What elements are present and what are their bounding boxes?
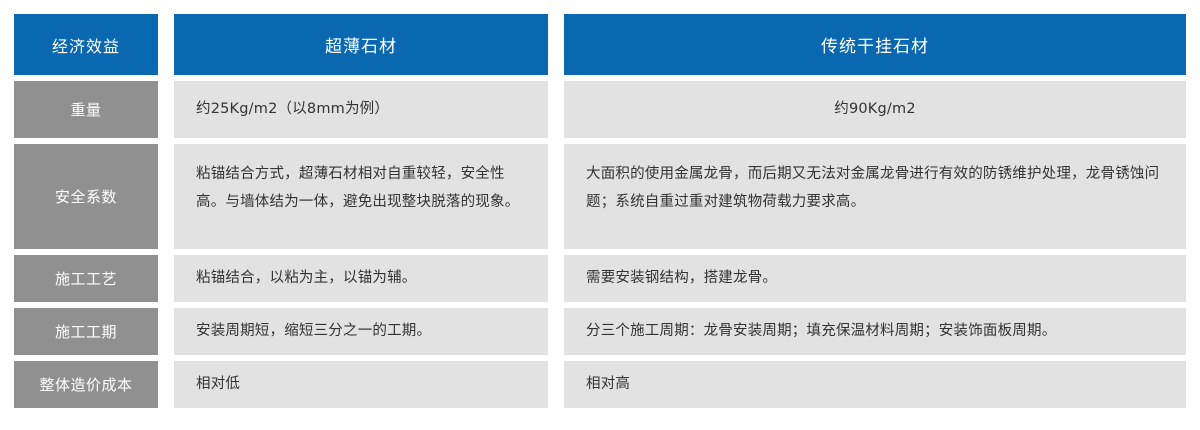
row-label-text: 安全系数 [14,186,158,207]
header-cell-ultrathin: 超薄石材 [174,14,548,75]
header-cell-traditional: 传统干挂石材 [564,14,1186,75]
cell-text: 安装周期短，缩短三分之一的工期。 [196,317,526,345]
row-label-duration: 施工工期 [14,308,158,355]
cell-duration-traditional: 分三个施工周期：龙骨安装周期；填充保温材料周期；安装饰面板周期。 [564,308,1186,355]
comparison-table: 经济效益 超薄石材 传统干挂石材 重量 约25Kg/m2（以8mm为例） 约90… [0,0,1200,430]
cell-text: 粘锚结合，以粘为主，以锚为辅。 [196,264,526,292]
cell-text: 相对高 [586,370,1164,398]
row-label-cost: 整体造价成本 [14,361,158,408]
table-row: 整体造价成本 相对低 相对高 [14,361,1186,408]
cell-text: 需要安装钢结构，搭建龙骨。 [586,264,1164,292]
cell-duration-ultrathin: 安装周期短，缩短三分之一的工期。 [174,308,548,355]
table-row: 安全系数 粘锚结合方式，超薄石材相对自重较轻，安全性高。与墙体结为一体，避免出现… [14,144,1186,249]
cell-text: 分三个施工周期：龙骨安装周期；填充保温材料周期；安装饰面板周期。 [586,317,1164,345]
cell-cost-traditional: 相对高 [564,361,1186,408]
table-row: 重量 约25Kg/m2（以8mm为例） 约90Kg/m2 [14,81,1186,138]
row-label-process: 施工工艺 [14,255,158,302]
cell-text: 大面积的使用金属龙骨，而后期又无法对金属龙骨进行有效的防锈维护处理，龙骨锈蚀问题… [586,160,1164,217]
cell-safety-traditional: 大面积的使用金属龙骨，而后期又无法对金属龙骨进行有效的防锈维护处理，龙骨锈蚀问题… [564,144,1186,249]
row-label-safety: 安全系数 [14,144,158,249]
cell-safety-ultrathin: 粘锚结合方式，超薄石材相对自重较轻，安全性高。与墙体结为一体，避免出现整块脱落的… [174,144,548,249]
row-label-weight: 重量 [14,81,158,138]
cell-text: 约25Kg/m2（以8mm为例） [196,95,526,123]
cell-weight-ultrathin: 约25Kg/m2（以8mm为例） [174,81,548,138]
cell-text: 粘锚结合方式，超薄石材相对自重较轻，安全性高。与墙体结为一体，避免出现整块脱落的… [196,160,526,217]
table-row: 施工工艺 粘锚结合，以粘为主，以锚为辅。 需要安装钢结构，搭建龙骨。 [14,255,1186,302]
table-header-row: 经济效益 超薄石材 传统干挂石材 [14,14,1186,75]
row-label-text: 施工工期 [14,321,158,342]
row-label-text: 整体造价成本 [14,374,158,395]
cell-text: 约90Kg/m2 [834,95,916,123]
cell-cost-ultrathin: 相对低 [174,361,548,408]
table-row: 施工工期 安装周期短，缩短三分之一的工期。 分三个施工周期：龙骨安装周期；填充保… [14,308,1186,355]
cell-weight-traditional: 约90Kg/m2 [564,81,1186,138]
header-label-metric: 经济效益 [14,33,158,57]
cell-text: 相对低 [196,370,526,398]
header-cell-metric: 经济效益 [14,14,158,75]
row-label-text: 施工工艺 [14,268,158,289]
row-label-text: 重量 [14,99,158,120]
cell-process-ultrathin: 粘锚结合，以粘为主，以锚为辅。 [174,255,548,302]
header-label-ultrathin: 超薄石材 [174,32,548,57]
cell-process-traditional: 需要安装钢结构，搭建龙骨。 [564,255,1186,302]
header-label-traditional: 传统干挂石材 [564,32,1186,57]
